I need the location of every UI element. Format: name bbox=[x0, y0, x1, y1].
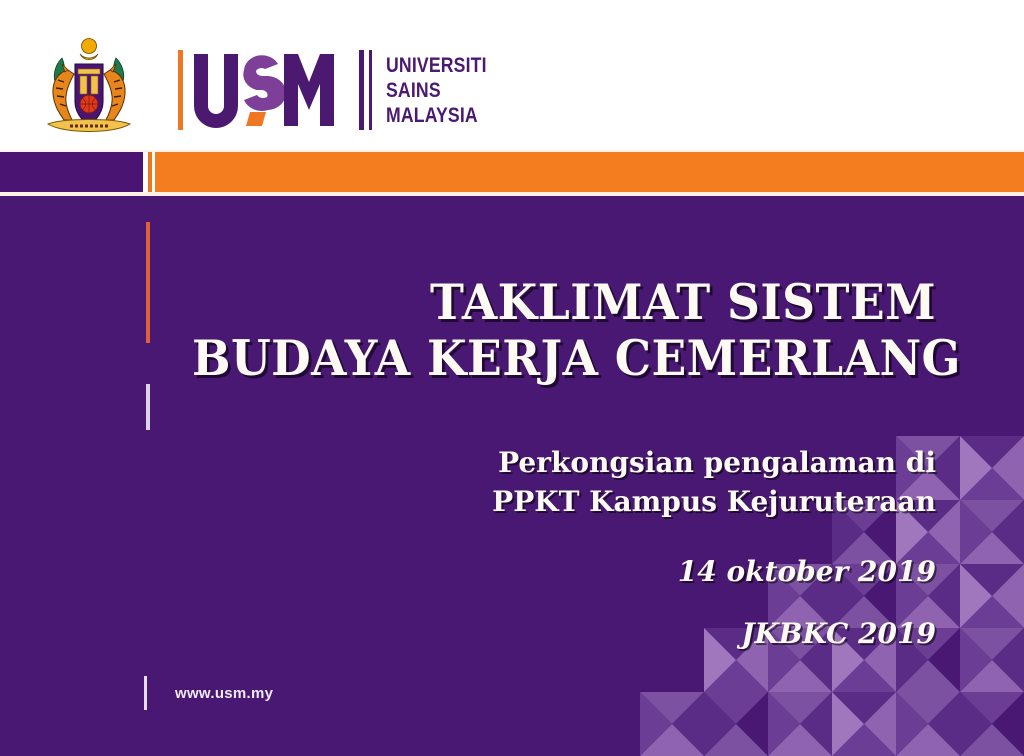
usm-right-rule bbox=[354, 50, 372, 130]
accent-rule-white bbox=[146, 384, 150, 430]
slide-body-panel: TAKLIMAT SISTEM BUDAYA KERJA CEMERLANG P… bbox=[0, 196, 1024, 756]
slide-subtitle: Perkongsian pengalaman di PPKT Kampus Ke… bbox=[136, 443, 936, 521]
slide-event-code: JKBKC 2019 bbox=[136, 603, 936, 665]
slide-footer: www.usm.my bbox=[144, 676, 273, 710]
presentation-title-slide: UNIVERSITI SAINS MALAYSIA bbox=[0, 0, 1024, 756]
band-orange-bar bbox=[155, 152, 1024, 192]
usm-name-line-2: SAINS bbox=[386, 78, 487, 103]
slide-title-line-2: BUDAYA KERJA CEMERLANG bbox=[192, 330, 936, 386]
slide-date: 14 oktober 2019 bbox=[136, 541, 936, 603]
usm-name-line-1: UNIVERSITI bbox=[386, 53, 487, 78]
usm-left-rule bbox=[178, 50, 188, 130]
band-orange-tick bbox=[148, 152, 152, 192]
usm-wordmark: UNIVERSITI SAINS MALAYSIA bbox=[178, 47, 506, 133]
usm-letters bbox=[188, 50, 348, 130]
slide-title-line-1: TAKLIMAT SISTEM bbox=[192, 274, 936, 330]
footer-divider bbox=[144, 676, 147, 710]
band-purple-block bbox=[0, 152, 143, 192]
usm-name-lines: UNIVERSITI SAINS MALAYSIA bbox=[386, 50, 506, 130]
usm-name-line-3: MALAYSIA bbox=[386, 103, 487, 128]
footer-url[interactable]: www.usm.my bbox=[175, 685, 273, 702]
slide-subtitle-line-1: Perkongsian pengalaman di bbox=[136, 443, 936, 482]
slide-subtitle-line-2: PPKT Kampus Kejuruteraan bbox=[136, 482, 936, 521]
slide-meta: 14 oktober 2019 JKBKC 2019 bbox=[136, 541, 936, 665]
slide-header: UNIVERSITI SAINS MALAYSIA bbox=[0, 0, 1024, 152]
usm-coat-of-arms-icon bbox=[34, 36, 144, 144]
usm-logo-lockup: UNIVERSITI SAINS MALAYSIA bbox=[34, 36, 506, 144]
slide-title: TAKLIMAT SISTEM BUDAYA KERJA CEMERLANG bbox=[136, 274, 936, 386]
